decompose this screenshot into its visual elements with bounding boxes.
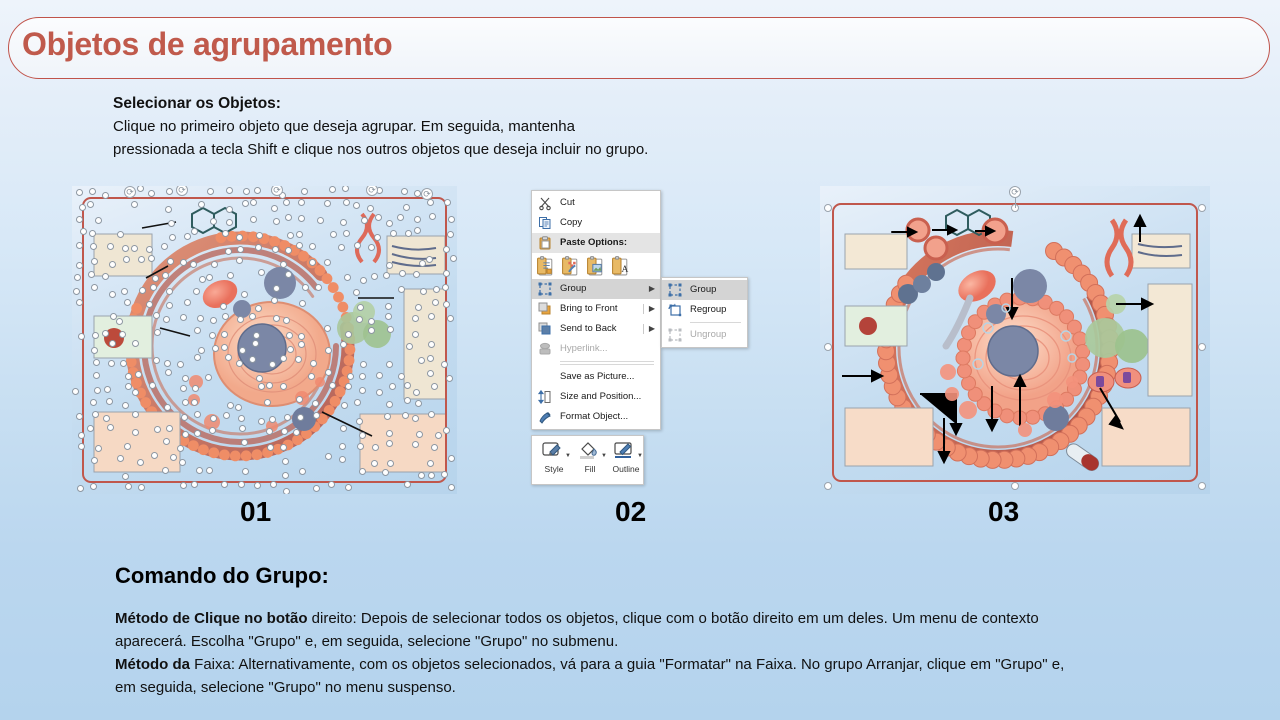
selection-handle[interactable] (222, 313, 229, 320)
selection-handle[interactable] (376, 372, 383, 379)
selection-handle[interactable] (329, 186, 336, 193)
chevron-down-icon[interactable]: ▼ (601, 453, 607, 459)
selection-handle[interactable] (347, 373, 354, 380)
selection-handle[interactable] (122, 402, 129, 409)
selection-handle[interactable] (360, 277, 367, 284)
paste-use-destination-theme-icon[interactable] (561, 256, 581, 276)
selection-handle[interactable] (184, 299, 191, 306)
selection-handle[interactable] (824, 482, 832, 490)
selection-handle[interactable] (1198, 343, 1206, 351)
selection-handle[interactable] (269, 361, 276, 368)
step-number-03: 03 (988, 496, 1019, 528)
menu-divider (643, 324, 644, 334)
page-title: Objetos de agrupamento (22, 26, 392, 63)
selection-handle[interactable] (418, 472, 425, 479)
paint-bucket-icon: ▼ (572, 440, 608, 464)
selection-handle[interactable] (76, 299, 83, 306)
menu-item-format-object[interactable]: Format Object... (532, 407, 660, 427)
selection-handle[interactable] (241, 291, 248, 298)
selection-handle[interactable] (420, 288, 427, 295)
bring-to-front-icon (537, 301, 553, 317)
selection-handle[interactable] (356, 316, 363, 323)
chevron-right-icon: ▶ (649, 299, 655, 319)
command-p1-bold: Método de Clique no botão (115, 610, 307, 627)
selection-handle[interactable] (416, 431, 423, 438)
selection-handle[interactable] (404, 481, 411, 488)
selection-handle[interactable] (76, 262, 83, 269)
selection-handle[interactable] (194, 411, 201, 418)
selection-handle[interactable] (221, 481, 228, 488)
send-to-back-icon (537, 321, 553, 337)
format-object-icon (537, 409, 553, 425)
selection-handle[interactable] (109, 340, 116, 347)
selection-handle[interactable] (312, 400, 319, 407)
selection-handle[interactable] (125, 383, 132, 390)
selection-handle[interactable] (138, 484, 145, 491)
figure-step-three[interactable]: ⟳ (820, 186, 1210, 494)
selection-handle[interactable] (182, 431, 189, 438)
menu-separator (690, 322, 741, 323)
selection-handle[interactable] (824, 343, 832, 351)
selection-handle[interactable] (226, 206, 233, 213)
selection-handle[interactable] (94, 387, 101, 394)
selection-handle[interactable] (280, 355, 287, 362)
selection-handle[interactable] (180, 259, 187, 266)
selection-handle[interactable] (414, 216, 421, 223)
selection-handle[interactable] (298, 199, 305, 206)
selection-handle[interactable] (125, 483, 132, 490)
menu-item-send-to-back[interactable]: Send to Back▶ (532, 319, 660, 339)
selection-handle[interactable] (343, 230, 350, 237)
rotation-handle[interactable]: ⟳ (1009, 186, 1021, 198)
selection-handle[interactable] (330, 231, 337, 238)
selection-handle[interactable] (387, 326, 394, 333)
menu-item-copy[interactable]: Copy (532, 213, 660, 233)
selection-handle[interactable] (117, 231, 124, 238)
selection-handle[interactable] (95, 217, 102, 224)
selection-handle[interactable] (385, 303, 392, 310)
selection-handle[interactable] (284, 414, 291, 421)
selection-handle[interactable] (435, 432, 442, 439)
rotation-handle[interactable]: ⟳ (124, 186, 136, 198)
selection-handle[interactable] (299, 300, 306, 307)
selection-handle[interactable] (154, 426, 161, 433)
rotation-handle[interactable]: ⟳ (421, 188, 433, 200)
group-submenu[interactable]: GroupRegroupUngroup (661, 277, 748, 348)
selection-handle[interactable] (90, 483, 97, 490)
selection-handle[interactable] (448, 216, 455, 223)
selection-handle[interactable] (368, 327, 375, 334)
chevron-right-icon: ▶ (649, 279, 655, 299)
selection-handle[interactable] (198, 201, 205, 208)
selection-handle[interactable] (345, 484, 352, 491)
selection-handle[interactable] (444, 199, 451, 206)
selection-handle[interactable] (152, 275, 159, 282)
mini-toolbar-fill-button[interactable]: ▼Fill (572, 440, 608, 475)
selection-handle[interactable] (122, 473, 129, 480)
selection-handle[interactable] (89, 230, 96, 237)
selection-handle[interactable] (90, 399, 97, 406)
mini-toolbar-style-button[interactable]: ▼Style (536, 440, 572, 475)
selection-handle[interactable] (199, 276, 206, 283)
paste-keep-source-formatting-icon[interactable] (536, 256, 556, 276)
selection-handle[interactable] (165, 369, 172, 376)
selection-handle[interactable] (415, 400, 422, 407)
selection-handle[interactable] (167, 258, 174, 265)
selection-handle[interactable] (95, 445, 102, 452)
selection-handle[interactable] (340, 219, 347, 226)
selection-handle[interactable] (138, 256, 145, 263)
selection-handle[interactable] (258, 383, 265, 390)
selection-handle[interactable] (238, 415, 245, 422)
menu-item-label: Paste Options: (560, 237, 627, 248)
selection-handle[interactable] (226, 187, 233, 194)
selection-handle[interactable] (273, 315, 280, 322)
selection-handle[interactable] (385, 313, 392, 320)
selection-handle[interactable] (123, 256, 130, 263)
submenu-item-label: Regroup (690, 304, 726, 315)
selection-handle[interactable] (282, 472, 289, 479)
selection-handle[interactable] (122, 245, 129, 252)
selection-handle[interactable] (325, 369, 332, 376)
shape-outline-icon: ▼ (608, 440, 644, 464)
selection-handle[interactable] (121, 288, 128, 295)
svg-text:A: A (622, 265, 629, 275)
regroup-icon (667, 302, 683, 318)
selection-handle[interactable] (210, 415, 217, 422)
selection-handle[interactable] (266, 382, 273, 389)
selection-handle[interactable] (236, 234, 243, 241)
selection-handle[interactable] (344, 274, 351, 281)
selection-handle[interactable] (443, 301, 450, 308)
chevron-down-icon[interactable]: ▼ (565, 453, 571, 459)
selection-handle[interactable] (222, 230, 229, 237)
selection-handle[interactable] (225, 248, 232, 255)
submenu-item-ungroup: Ungroup (662, 325, 747, 345)
selection-handle[interactable] (447, 231, 454, 238)
menu-item-label: Bring to Front (560, 303, 618, 314)
command-paragraph-2: Método da Faixa: Alternativamente, com o… (115, 653, 1075, 699)
selection-handle[interactable] (255, 305, 262, 312)
command-body: Método de Clique no botão direito: Depoi… (115, 607, 1075, 699)
selection-handle[interactable] (153, 357, 160, 364)
menu-separator (560, 361, 654, 362)
selection-handle[interactable] (415, 304, 422, 311)
selection-handle[interactable] (285, 214, 292, 221)
selection-handle[interactable] (255, 244, 262, 251)
selection-handle[interactable] (402, 412, 409, 419)
selection-handle[interactable] (170, 454, 177, 461)
selection-handle[interactable] (79, 204, 86, 211)
intro-heading: Selecionar os Objetos: (113, 93, 893, 115)
context-menu[interactable]: CutCopyPaste Options:AGroup▶Bring to Fro… (531, 190, 661, 430)
scissors-icon (537, 195, 553, 211)
chevron-down-icon[interactable]: ▼ (637, 453, 643, 459)
selection-handle[interactable] (166, 188, 173, 195)
selection-handle[interactable] (386, 440, 393, 447)
selection-handle[interactable] (250, 199, 257, 206)
selection-handle[interactable] (273, 285, 280, 292)
selection-handle[interactable] (148, 190, 155, 197)
chevron-right-icon: ▶ (649, 319, 655, 339)
paste-picture-icon[interactable] (586, 256, 606, 276)
selection-handle[interactable] (125, 373, 132, 380)
selection-handle[interactable] (182, 399, 189, 406)
selection-handle[interactable] (428, 411, 435, 418)
submenu-item-regroup[interactable]: Regroup (662, 300, 747, 320)
selection-handle[interactable] (107, 243, 114, 250)
selection-handle[interactable] (109, 291, 116, 298)
selection-handle[interactable] (401, 188, 408, 195)
menu-item-group[interactable]: Group▶ (532, 279, 660, 299)
menu-item-paste-options: Paste Options: (532, 233, 660, 253)
menu-item-hyperlink[interactable]: Hyperlink... (532, 339, 660, 359)
command-paragraph-1: Método de Clique no botão direito: Depoi… (115, 607, 1075, 653)
menu-item-label: Send to Back (560, 323, 617, 334)
selection-handle[interactable] (146, 246, 153, 253)
selection-handle[interactable] (241, 439, 248, 446)
selection-handle[interactable] (180, 385, 187, 392)
selection-handle[interactable] (89, 188, 96, 195)
command-p2-bold: Método da (115, 656, 190, 673)
selection-handle[interactable] (124, 443, 131, 450)
selection-handle[interactable] (88, 271, 95, 278)
selection-handle[interactable] (177, 445, 184, 452)
shape-style-icon: ▼ (536, 440, 572, 464)
selection-handle[interactable] (398, 286, 405, 293)
submenu-item-label: Group (690, 284, 716, 295)
selection-handle[interactable] (117, 455, 124, 462)
mini-toolbar-label: Outline (608, 464, 644, 475)
selection-handle[interactable] (376, 389, 383, 396)
copy-icon (537, 215, 553, 231)
menu-item-label: Hyperlink... (560, 343, 608, 354)
selection-handle[interactable] (403, 204, 410, 211)
selection-handle[interactable] (406, 343, 413, 350)
selection-handle[interactable] (313, 485, 320, 492)
selection-handle[interactable] (1198, 204, 1206, 212)
selection-handle[interactable] (196, 467, 203, 474)
selection-handle[interactable] (450, 255, 457, 262)
selection-handle[interactable] (1198, 482, 1206, 490)
command-p2-rest: Faixa: Alternativamente, com os objetos … (115, 656, 1064, 696)
selection-handle[interactable] (1011, 482, 1019, 490)
selection-handle[interactable] (205, 374, 212, 381)
mini-toolbar-label: Style (536, 464, 572, 475)
selection-handle[interactable] (404, 397, 411, 404)
submenu-item-group[interactable]: Group (662, 280, 747, 300)
selection-handle[interactable] (254, 482, 261, 489)
submenu-item-label: Ungroup (690, 329, 726, 340)
menu-item-label: Format Object... (560, 411, 628, 422)
selection-handle[interactable] (412, 315, 419, 322)
selection-handle[interactable] (242, 200, 249, 207)
selection-handle[interactable] (90, 243, 97, 250)
ungroup-icon (667, 327, 683, 343)
selection-handle[interactable] (258, 269, 265, 276)
selection-handle[interactable] (371, 460, 378, 467)
selection-handle[interactable] (375, 214, 382, 221)
selection-handle[interactable] (162, 272, 169, 279)
selection-handle[interactable] (309, 259, 316, 266)
selection-handle[interactable] (448, 455, 455, 462)
selection-handle[interactable] (287, 232, 294, 239)
selection-handle[interactable] (345, 331, 352, 338)
selection-handle[interactable] (386, 220, 393, 227)
selection-handle[interactable] (283, 488, 290, 494)
selection-handle[interactable] (164, 404, 171, 411)
selection-handle[interactable] (309, 243, 316, 250)
menu-item-label: Copy (560, 217, 582, 228)
hyperlink-icon (537, 341, 553, 357)
selection-handle[interactable] (120, 360, 127, 367)
mini-toolbar-label: Fill (572, 464, 608, 475)
figure-inner-frame (832, 203, 1198, 482)
selection-handle[interactable] (207, 188, 214, 195)
selection-handle[interactable] (153, 312, 160, 319)
menu-item-cut[interactable]: Cut (532, 193, 660, 213)
paste-keep-text-only-icon[interactable]: A (611, 256, 631, 276)
selection-handle[interactable] (237, 246, 244, 253)
selection-handle[interactable] (177, 361, 184, 368)
selection-handle[interactable] (324, 200, 331, 207)
mini-toolbar[interactable]: ▼Style▼Fill▼Outline (531, 435, 644, 485)
selection-handle[interactable] (165, 206, 172, 213)
selection-handle[interactable] (443, 270, 450, 277)
clipboard-icon (537, 235, 553, 251)
selection-handle[interactable] (109, 261, 116, 268)
selection-handle[interactable] (91, 347, 98, 354)
intro-text-block: Selecionar os Objetos: Clique no primeir… (113, 93, 893, 161)
selection-handle[interactable] (250, 216, 257, 223)
selection-handle[interactable] (427, 460, 434, 467)
selection-handle[interactable] (387, 460, 394, 467)
size-position-icon (537, 389, 553, 405)
selection-handle[interactable] (131, 245, 138, 252)
selection-handle[interactable] (298, 341, 305, 348)
selection-handle[interactable] (92, 411, 99, 418)
figure-step-one[interactable]: ⟳⟳⟳⟳⟳ (72, 186, 457, 494)
selection-handle[interactable] (340, 425, 347, 432)
selection-handle[interactable] (181, 414, 188, 421)
menu-item-size-and-position[interactable]: Size and Position... (532, 387, 660, 407)
selection-handle[interactable] (296, 242, 303, 249)
selection-handle[interactable] (313, 412, 320, 419)
menu-item-label: Size and Position... (560, 391, 641, 402)
selection-handle[interactable] (184, 233, 191, 240)
selection-handle[interactable] (448, 484, 455, 491)
selection-handle[interactable] (273, 218, 280, 225)
selection-handle[interactable] (386, 262, 393, 269)
selection-handle[interactable] (412, 441, 419, 448)
selection-handle[interactable] (169, 234, 176, 241)
selection-handle[interactable] (287, 346, 294, 353)
step-number-01: 01 (240, 496, 271, 528)
selection-handle[interactable] (317, 217, 324, 224)
selection-handle[interactable] (412, 331, 419, 338)
selection-handle[interactable] (239, 347, 246, 354)
selection-handle[interactable] (237, 316, 244, 323)
selection-handle[interactable] (227, 272, 234, 279)
selection-handle[interactable] (132, 340, 139, 347)
selection-handle[interactable] (210, 317, 217, 324)
selection-handle[interactable] (354, 242, 361, 249)
selection-handle[interactable] (405, 230, 412, 237)
selection-handle[interactable] (359, 468, 366, 475)
selection-handle[interactable] (235, 404, 242, 411)
selection-handle[interactable] (73, 288, 80, 295)
selection-handle[interactable] (339, 456, 346, 463)
selection-handle[interactable] (102, 192, 109, 199)
menu-item-label: Group (560, 283, 586, 294)
selection-handle[interactable] (210, 218, 217, 225)
selection-handle[interactable] (223, 412, 230, 419)
paste-options-row[interactable]: A (532, 253, 660, 279)
selection-handle[interactable] (824, 204, 832, 212)
selection-handle[interactable] (414, 227, 421, 234)
selection-handle[interactable] (427, 355, 434, 362)
menu-item-label: Save as Picture... (560, 371, 634, 382)
selection-handle[interactable] (368, 244, 375, 251)
selection-handle[interactable] (302, 284, 309, 291)
intro-line-2: pressionada a tecla Shift e clique nos o… (113, 138, 893, 161)
menu-item-label: Cut (560, 197, 575, 208)
selection-handle[interactable] (286, 332, 293, 339)
step-number-02: 02 (615, 496, 646, 528)
menu-item-save-as-picture[interactable]: Save as Picture... (532, 367, 660, 387)
intro-line-1: Clique no primeiro objeto que deseja agr… (113, 115, 893, 138)
selection-handle[interactable] (168, 220, 175, 227)
selection-handle[interactable] (285, 247, 292, 254)
selection-handle[interactable] (324, 259, 331, 266)
selection-handle[interactable] (154, 329, 161, 336)
menu-item-bring-to-front[interactable]: Bring to Front▶ (532, 299, 660, 319)
mini-toolbar-outline-button[interactable]: ▼Outline (608, 440, 644, 475)
selection-handle[interactable] (80, 228, 87, 235)
command-heading: Comando do Grupo: (115, 563, 329, 589)
selection-handle[interactable] (367, 205, 374, 212)
selection-handle[interactable] (372, 444, 379, 451)
group-icon (537, 281, 553, 297)
selection-handle[interactable] (150, 284, 157, 291)
selection-handle[interactable] (76, 216, 83, 223)
selection-handle[interactable] (93, 372, 100, 379)
selection-handle[interactable] (74, 274, 81, 281)
group-icon (667, 282, 683, 298)
selection-handle[interactable] (78, 333, 85, 340)
selection-handle[interactable] (119, 331, 126, 338)
selection-handle[interactable] (283, 317, 290, 324)
menu-separator (560, 364, 654, 365)
menu-divider (643, 304, 644, 314)
selection-handle[interactable] (180, 314, 187, 321)
selection-handle[interactable] (357, 304, 364, 311)
selection-handle[interactable] (258, 418, 265, 425)
